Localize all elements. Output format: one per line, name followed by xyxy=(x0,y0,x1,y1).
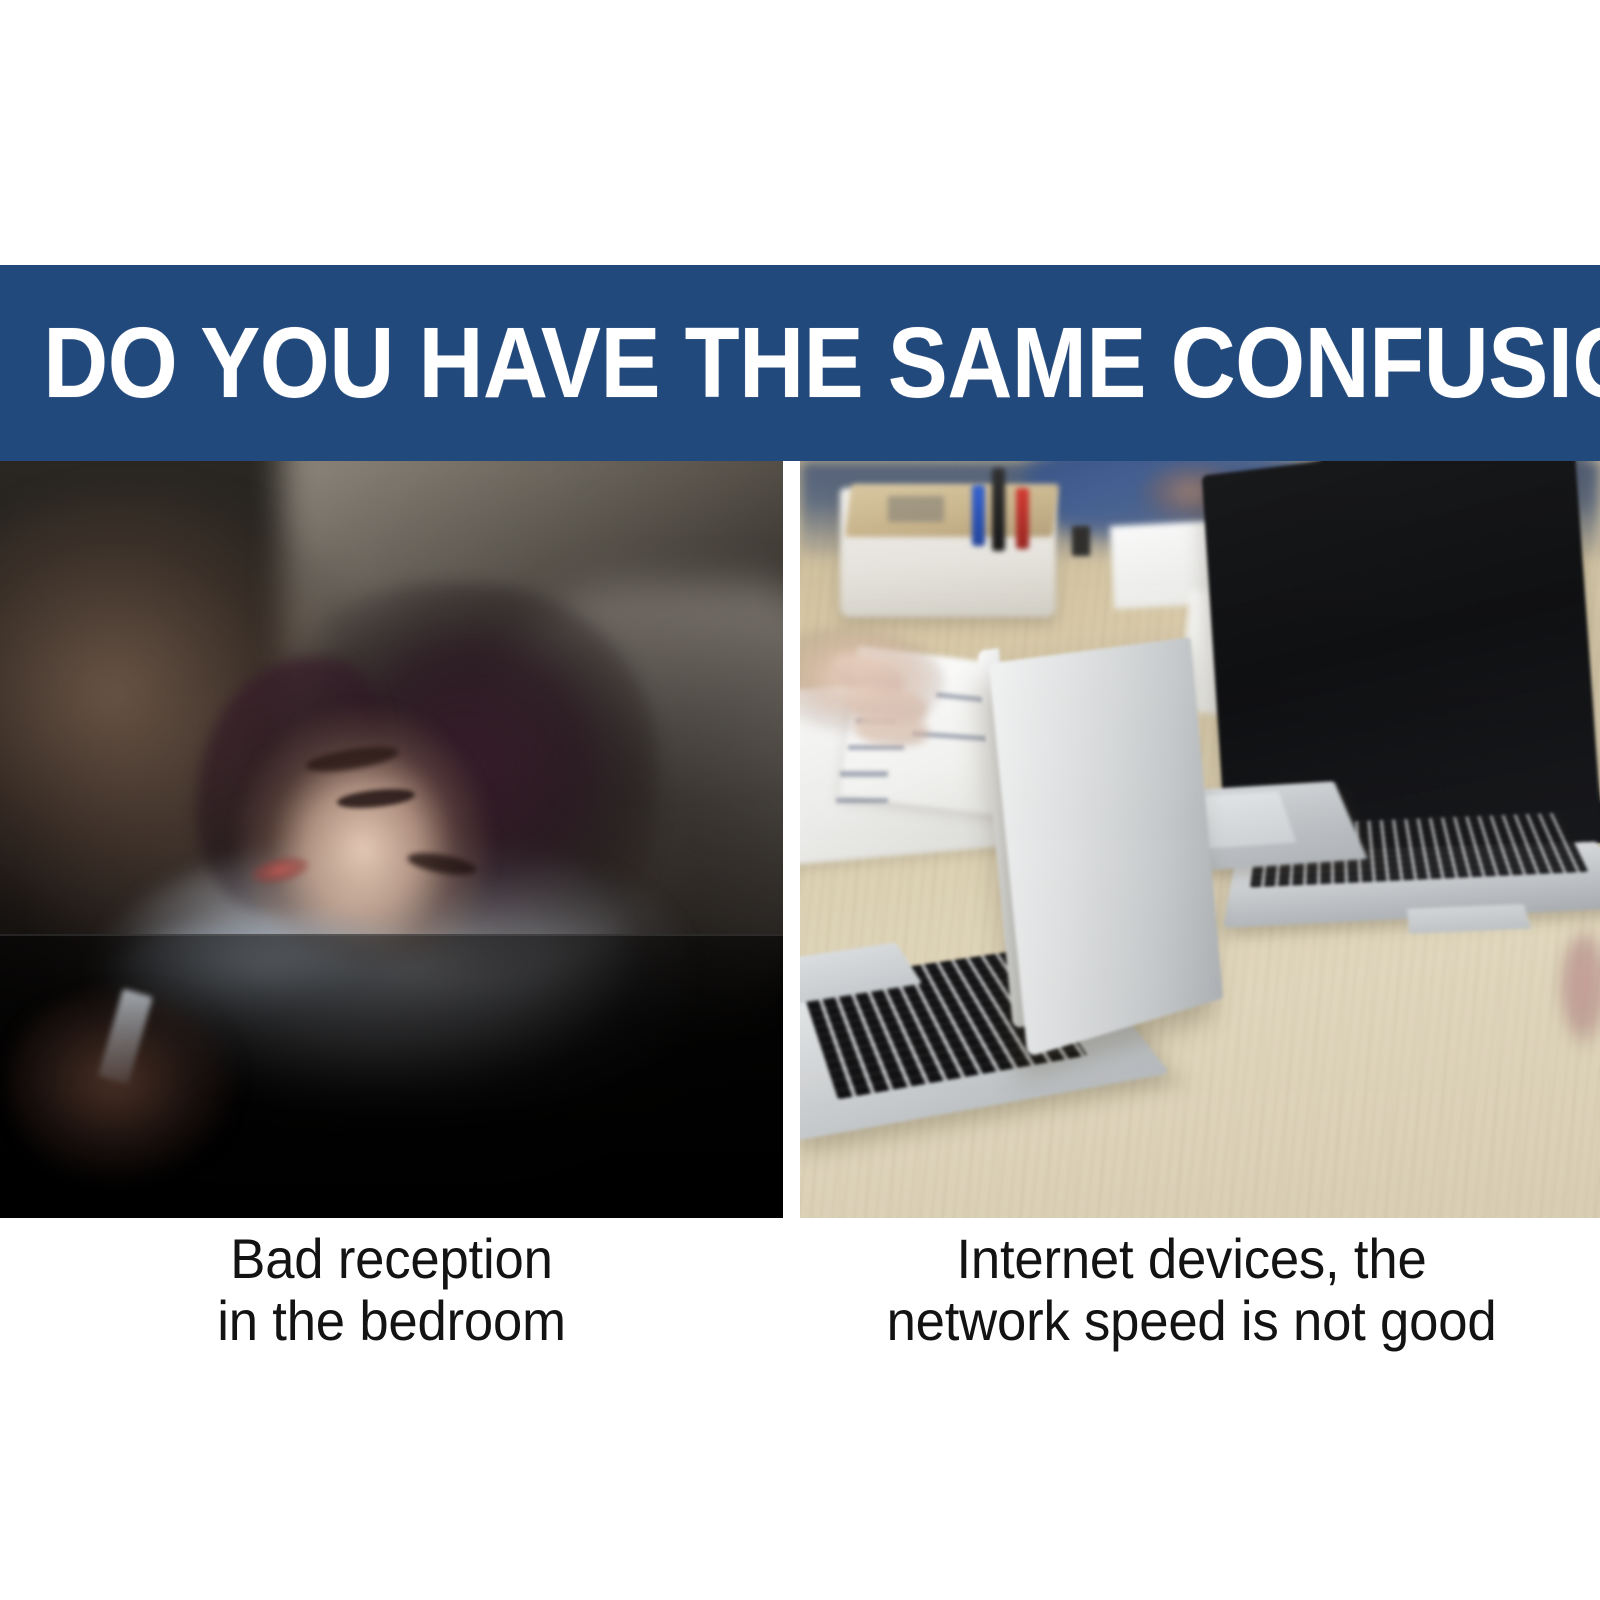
paper-mark-2 xyxy=(848,745,904,750)
caption-office-line2: network speed is not good xyxy=(808,1290,1576,1352)
headline-banner: DO YOU HAVE THE SAME CONFUSION xyxy=(0,265,1600,461)
caption-bedroom: Bad reception in the bedroom xyxy=(0,1228,783,1408)
paper-mark-4 xyxy=(836,798,888,803)
blue-pen xyxy=(972,485,985,546)
front-laptop-lid xyxy=(989,637,1224,1057)
black-pen xyxy=(992,468,1005,551)
banner-title: DO YOU HAVE THE SAME CONFUSION xyxy=(0,313,1600,413)
photo-strip xyxy=(0,461,1600,1218)
caption-office-line1: Internet devices, the xyxy=(808,1228,1576,1290)
bedroom-scene xyxy=(0,461,783,1218)
caption-bedroom-line2: in the bedroom xyxy=(23,1290,759,1352)
office-scene xyxy=(800,461,1600,1218)
caption-bedroom-line1: Bad reception xyxy=(23,1228,759,1290)
caption-office: Internet devices, the network speed is n… xyxy=(783,1228,1600,1408)
bedroom-photo xyxy=(0,461,783,1218)
promo-page: DO YOU HAVE THE SAME CONFUSION xyxy=(0,0,1600,1600)
desk-clip xyxy=(1072,526,1090,556)
paper-mark-3 xyxy=(840,771,888,776)
red-pen xyxy=(1016,488,1029,549)
pen-holder-slot xyxy=(888,496,944,522)
caption-row: Bad reception in the bedroom Internet de… xyxy=(0,1228,1600,1408)
office-photo xyxy=(800,461,1600,1218)
